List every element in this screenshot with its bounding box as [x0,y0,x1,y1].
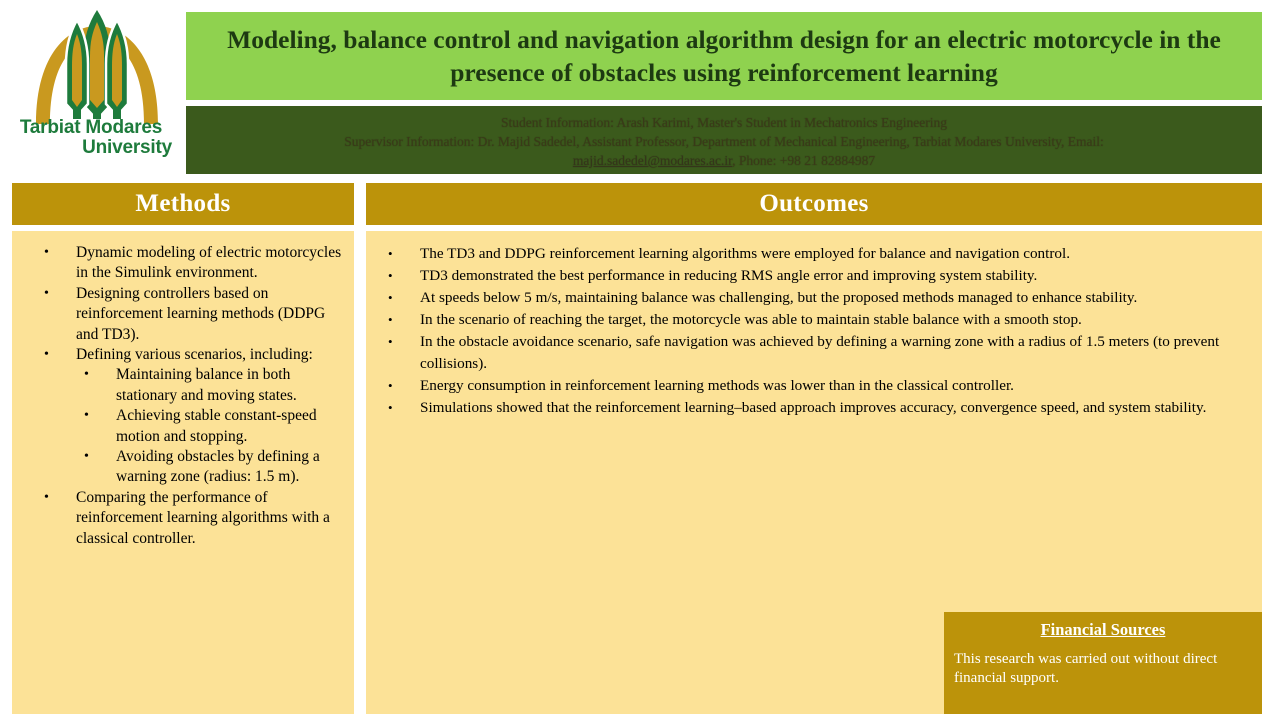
bullet-icon: • [84,365,89,385]
methods-heading-label: Methods [135,190,230,218]
outcomes-bullet-text: The TD3 and DDPG reinforcement learning … [420,245,1070,262]
bullet-icon: • [388,309,393,331]
financial-sources-box: Financial Sources This research was carr… [944,612,1262,714]
methods-sub-bullet-item: •Achieving stable constant-speed motion … [76,406,346,447]
outcomes-bullet-item: •At speeds below 5 m/s, maintaining bala… [372,287,1252,309]
student-information-line: Student Information: Arash Karimi, Maste… [196,113,1252,132]
methods-section-body: •Dynamic modeling of electric motorcycle… [12,231,354,714]
contact-line: majid.sadedel@modares.ac.ir, Phone: +98 … [196,151,1252,170]
methods-sub-bullet-text: Avoiding obstacles by defining a warning… [116,448,320,485]
author-info-band: Student Information: Arash Karimi, Maste… [186,106,1262,174]
outcomes-bullet-item: •The TD3 and DDPG reinforcement learning… [372,243,1252,265]
outcomes-heading-label: Outcomes [759,190,868,218]
bullet-icon: • [44,284,49,304]
outcomes-bullet-text: At speeds below 5 m/s, maintaining balan… [420,289,1137,306]
methods-sub-bullet-text: Maintaining balance in both stationary a… [116,366,297,403]
bullet-icon: • [44,488,49,508]
outcomes-bullet-text: TD3 demonstrated the best performance in… [420,267,1037,284]
outcomes-bullet-list: •The TD3 and DDPG reinforcement learning… [372,243,1252,419]
bullet-icon: • [44,345,49,365]
methods-sub-bullet-text: Achieving stable constant-speed motion a… [116,407,317,444]
supervisor-information-line: Supervisor Information: Dr. Majid Sadede… [196,132,1252,151]
methods-sub-bullet-item: •Maintaining balance in both stationary … [76,365,346,406]
university-logo-wordmark: Tarbiat Modares University [0,118,182,158]
university-logo-mark [22,8,172,126]
bullet-icon: • [388,243,393,265]
financial-sources-text: This research was carried out without di… [954,650,1252,688]
methods-section-header: Methods [12,183,354,225]
outcomes-bullet-item: •In the scenario of reaching the target,… [372,309,1252,331]
methods-bullet-item: •Dynamic modeling of electric motorcycle… [20,243,346,284]
outcomes-section-header: Outcomes [366,183,1262,225]
bullet-icon: • [44,243,49,263]
outcomes-bullet-item: •Energy consumption in reinforcement lea… [372,375,1252,397]
methods-sub-bullet-list: •Maintaining balance in both stationary … [76,365,346,487]
methods-bullet-list: •Dynamic modeling of electric motorcycle… [20,243,346,549]
methods-bullet-text: Dynamic modeling of electric motorcycles… [76,244,341,281]
methods-bullet-item: •Defining various scenarios, including:•… [20,345,346,488]
bullet-icon: • [84,447,89,467]
bullet-icon: • [388,265,393,287]
outcomes-bullet-item: •Simulations showed that the reinforceme… [372,397,1252,419]
bullet-icon: • [388,397,393,419]
outcomes-bullet-text: In the obstacle avoidance scenario, safe… [420,333,1219,372]
methods-bullet-item: •Designing controllers based on reinforc… [20,284,346,345]
bullet-icon: • [388,287,393,309]
methods-bullet-text: Comparing the performance of reinforceme… [76,489,330,547]
email-link[interactable]: majid.sadedel@modares.ac.ir [573,153,732,168]
outcomes-bullet-item: •TD3 demonstrated the best performance i… [372,265,1252,287]
poster-title-band: Modeling, balance control and navigation… [186,12,1262,100]
outcomes-bullet-text: Simulations showed that the reinforcemen… [420,399,1206,416]
bullet-icon: • [388,375,393,397]
supervisor-information-text: Supervisor Information: Dr. Majid Sadede… [344,134,1104,149]
outcomes-bullet-text: In the scenario of reaching the target, … [420,311,1082,328]
logo-wordmark-line2: University [0,138,182,158]
methods-sub-bullet-item: •Avoiding obstacles by defining a warnin… [76,447,346,488]
methods-bullet-text: Designing controllers based on reinforce… [76,285,325,343]
bullet-icon: • [388,331,393,353]
methods-bullet-text: Defining various scenarios, including: [76,346,313,363]
university-logo-area: Tarbiat Modares University [0,0,182,178]
logo-wordmark-line1: Tarbiat Modares [20,117,162,138]
outcomes-bullet-text: Energy consumption in reinforcement lear… [420,377,1014,394]
phone-text: , Phone: +98 21 82884987 [732,153,875,168]
financial-sources-heading: Financial Sources [954,620,1252,640]
outcomes-bullet-item: •In the obstacle avoidance scenario, saf… [372,331,1252,375]
bullet-icon: • [84,406,89,426]
page-title: Modeling, balance control and navigation… [200,23,1248,89]
logo-tulip-leaves [66,10,128,119]
methods-bullet-item: •Comparing the performance of reinforcem… [20,488,346,549]
